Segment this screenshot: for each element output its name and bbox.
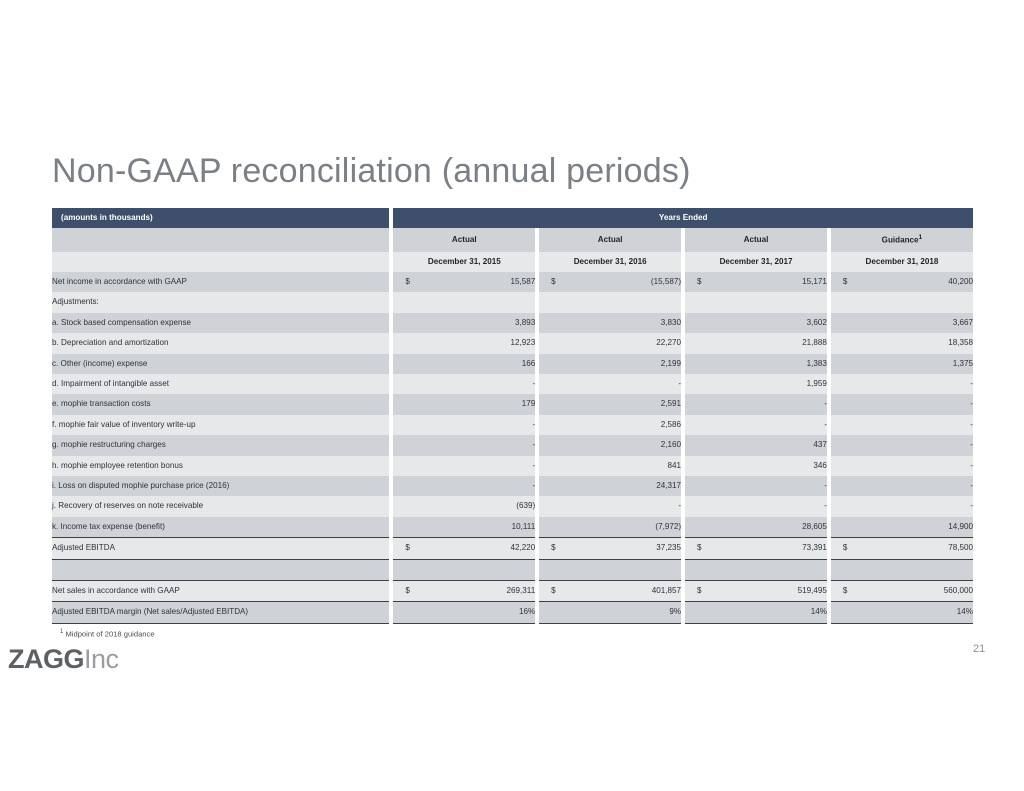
- cell-value: -: [859, 476, 973, 496]
- currency-symbol: $: [393, 538, 421, 559]
- cell-value: 15,171: [713, 272, 826, 292]
- cell-value: -: [422, 415, 535, 435]
- guidance-footnote-marker: 1: [919, 234, 923, 241]
- cell-value: 3,667: [859, 313, 973, 333]
- cell-value: -: [859, 374, 973, 394]
- currency-symbol: [393, 292, 421, 312]
- currency-symbol: [831, 415, 859, 435]
- currency-symbol: $: [539, 272, 567, 292]
- currency-symbol: [393, 313, 421, 333]
- currency-symbol: [393, 333, 421, 353]
- table-row: [52, 559, 973, 580]
- currency-symbol: [831, 476, 859, 496]
- header-row-type: Actual Actual Actual Guidance1: [52, 228, 973, 251]
- date-row-blank: [52, 252, 389, 272]
- amounts-in-thousands-label: (amounts in thousands): [52, 208, 389, 228]
- currency-symbol: [831, 394, 859, 414]
- currency-symbol: [685, 476, 713, 496]
- cell-value: 18,358: [859, 333, 973, 353]
- cell-value: 1,959: [713, 374, 826, 394]
- table-row: Adjustments:: [52, 292, 973, 312]
- footnote: 1 Midpoint of 2018 guidance: [60, 629, 155, 639]
- currency-symbol: $: [393, 580, 421, 601]
- currency-symbol: [393, 394, 421, 414]
- cell-value: -: [422, 374, 535, 394]
- cell-value: 1,383: [713, 354, 826, 374]
- row-label: a. Stock based compensation expense: [52, 313, 389, 333]
- cell-value: 560,000: [859, 580, 973, 601]
- cell-value: 10,111: [422, 517, 535, 538]
- cell-value: -: [568, 496, 681, 516]
- cell-value: 40,200: [859, 272, 973, 292]
- non-gaap-reconciliation-table: (amounts in thousands) Years Ended Actua…: [52, 208, 973, 624]
- column-type-2017: Actual: [685, 228, 827, 251]
- row-label: Adjusted EBITDA: [52, 538, 389, 559]
- currency-symbol: [831, 456, 859, 476]
- currency-symbol: [685, 435, 713, 455]
- cell-value: [422, 559, 535, 580]
- cell-value: [859, 292, 973, 312]
- cell-value: [713, 292, 826, 312]
- cell-value: 1,375: [859, 354, 973, 374]
- cell-value: 16%: [422, 602, 535, 623]
- cell-value: (15,587): [568, 272, 681, 292]
- cell-value: 14%: [713, 602, 826, 623]
- row-label: Net income in accordance with GAAP: [52, 272, 389, 292]
- currency-symbol: [539, 559, 567, 580]
- table-row: Adjusted EBITDA margin (Net sales/Adjust…: [52, 602, 973, 623]
- table-row: d. Impairment of intangible asset--1,959…: [52, 374, 973, 394]
- currency-symbol: [539, 435, 567, 455]
- table-row: Net income in accordance with GAAP$15,58…: [52, 272, 973, 292]
- currency-symbol: [685, 394, 713, 414]
- currency-symbol: [685, 517, 713, 538]
- table-header: (amounts in thousands) Years Ended Actua…: [52, 208, 973, 272]
- table-row: b. Depreciation and amortization12,92322…: [52, 333, 973, 353]
- currency-symbol: [393, 435, 421, 455]
- cell-value: [568, 559, 681, 580]
- cell-value: 22,270: [568, 333, 681, 353]
- currency-symbol: $: [685, 272, 713, 292]
- table-row: e. mophie transaction costs1792,591--: [52, 394, 973, 414]
- cell-value: 3,830: [568, 313, 681, 333]
- cell-value: 2,160: [568, 435, 681, 455]
- cell-value: 2,591: [568, 394, 681, 414]
- currency-symbol: [539, 456, 567, 476]
- currency-symbol: [831, 602, 859, 623]
- currency-symbol: [539, 354, 567, 374]
- currency-symbol: [831, 435, 859, 455]
- currency-symbol: [539, 313, 567, 333]
- footnote-text: Midpoint of 2018 guidance: [65, 630, 154, 639]
- currency-symbol: [393, 496, 421, 516]
- cell-value: 401,857: [568, 580, 681, 601]
- cell-value: (7,972): [568, 517, 681, 538]
- currency-symbol: [393, 517, 421, 538]
- row-label: k. Income tax expense (benefit): [52, 517, 389, 538]
- years-ended-label: Years Ended: [393, 208, 973, 228]
- currency-symbol: [539, 602, 567, 623]
- cell-value: 14%: [859, 602, 973, 623]
- table-body: Net income in accordance with GAAP$15,58…: [52, 272, 973, 623]
- financial-table-container: (amounts in thousands) Years Ended Actua…: [52, 208, 973, 624]
- column-type-2015: Actual: [393, 228, 535, 251]
- currency-symbol: [539, 476, 567, 496]
- cell-value: 37,235: [568, 538, 681, 559]
- cell-value: -: [859, 415, 973, 435]
- currency-symbol: $: [393, 272, 421, 292]
- currency-symbol: [685, 496, 713, 516]
- currency-symbol: [831, 559, 859, 580]
- table-row: c. Other (income) expense1662,1991,3831,…: [52, 354, 973, 374]
- row-label: d. Impairment of intangible asset: [52, 374, 389, 394]
- cell-value: 14,900: [859, 517, 973, 538]
- currency-symbol: [393, 456, 421, 476]
- row-label: [52, 559, 389, 580]
- table-row: Adjusted EBITDA$42,220$37,235$73,391$78,…: [52, 538, 973, 559]
- cell-value: 519,495: [713, 580, 826, 601]
- cell-value: [859, 559, 973, 580]
- currency-symbol: [393, 602, 421, 623]
- table-row: j. Recovery of reserves on note receivab…: [52, 496, 973, 516]
- cell-value: -: [859, 456, 973, 476]
- row-label: g. mophie restructuring charges: [52, 435, 389, 455]
- table-row: g. mophie restructuring charges-2,160437…: [52, 435, 973, 455]
- currency-symbol: [685, 292, 713, 312]
- row-label: i. Loss on disputed mophie purchase pric…: [52, 476, 389, 496]
- cell-value: (639): [422, 496, 535, 516]
- currency-symbol: $: [685, 580, 713, 601]
- currency-symbol: [393, 415, 421, 435]
- currency-symbol: $: [539, 580, 567, 601]
- currency-symbol: [685, 415, 713, 435]
- currency-symbol: [831, 333, 859, 353]
- cell-value: [422, 292, 535, 312]
- currency-symbol: [685, 602, 713, 623]
- logo-secondary: Inc: [84, 644, 119, 674]
- row-label: h. mophie employee retention bonus: [52, 456, 389, 476]
- currency-symbol: [831, 374, 859, 394]
- row-label: e. mophie transaction costs: [52, 394, 389, 414]
- table-row: a. Stock based compensation expense3,893…: [52, 313, 973, 333]
- cell-value: -: [859, 496, 973, 516]
- currency-symbol: [685, 456, 713, 476]
- cell-value: 15,587: [422, 272, 535, 292]
- currency-symbol: [685, 559, 713, 580]
- currency-symbol: [539, 292, 567, 312]
- currency-symbol: [831, 313, 859, 333]
- cell-value: 179: [422, 394, 535, 414]
- currency-symbol: [831, 496, 859, 516]
- cell-value: -: [859, 435, 973, 455]
- cell-value: 2,586: [568, 415, 681, 435]
- cell-value: 73,391: [713, 538, 826, 559]
- page-title: Non-GAAP reconciliation (annual periods): [52, 152, 691, 191]
- cell-value: [568, 292, 681, 312]
- currency-symbol: $: [831, 538, 859, 559]
- cell-value: 3,602: [713, 313, 826, 333]
- row-label: f. mophie fair value of inventory write-…: [52, 415, 389, 435]
- cell-value: 9%: [568, 602, 681, 623]
- cell-value: -: [422, 476, 535, 496]
- cell-value: -: [422, 456, 535, 476]
- currency-symbol: [393, 559, 421, 580]
- cell-value: 841: [568, 456, 681, 476]
- cell-value: -: [713, 496, 826, 516]
- column-type-2016: Actual: [539, 228, 681, 251]
- logo-primary: ZAGG: [8, 644, 84, 674]
- cell-value: -: [568, 374, 681, 394]
- currency-symbol: [831, 292, 859, 312]
- currency-symbol: [831, 517, 859, 538]
- currency-symbol: $: [831, 272, 859, 292]
- cell-value: -: [713, 476, 826, 496]
- currency-symbol: [393, 354, 421, 374]
- row-label: c. Other (income) expense: [52, 354, 389, 374]
- cell-value: 437: [713, 435, 826, 455]
- cell-value: 166: [422, 354, 535, 374]
- table-row: h. mophie employee retention bonus-84134…: [52, 456, 973, 476]
- column-type-2018: Guidance1: [831, 228, 973, 251]
- column-type-2018-text: Guidance: [882, 236, 919, 245]
- page-number: 21: [973, 643, 985, 655]
- row-label: b. Depreciation and amortization: [52, 333, 389, 353]
- footnote-marker: 1: [60, 629, 63, 635]
- row-label: Adjusted EBITDA margin (Net sales/Adjust…: [52, 602, 389, 623]
- cell-value: -: [713, 394, 826, 414]
- cell-value: 269,311: [422, 580, 535, 601]
- cell-value: 346: [713, 456, 826, 476]
- currency-symbol: $: [685, 538, 713, 559]
- currency-symbol: [539, 496, 567, 516]
- cell-value: -: [859, 394, 973, 414]
- cell-value: 2,199: [568, 354, 681, 374]
- column-date-2016: December 31, 2016: [539, 252, 681, 272]
- currency-symbol: [685, 354, 713, 374]
- currency-symbol: [539, 415, 567, 435]
- zagg-inc-logo: ZAGGInc: [8, 644, 119, 675]
- currency-symbol: [685, 313, 713, 333]
- cell-value: 21,888: [713, 333, 826, 353]
- cell-value: 12,923: [422, 333, 535, 353]
- row-label: j. Recovery of reserves on note receivab…: [52, 496, 389, 516]
- type-row-blank: [52, 228, 389, 251]
- currency-symbol: [539, 517, 567, 538]
- currency-symbol: $: [831, 580, 859, 601]
- currency-symbol: [685, 374, 713, 394]
- currency-symbol: [831, 354, 859, 374]
- table-row: k. Income tax expense (benefit)10,111(7,…: [52, 517, 973, 538]
- cell-value: [713, 559, 826, 580]
- table-row: Net sales in accordance with GAAP$269,31…: [52, 580, 973, 601]
- currency-symbol: [393, 476, 421, 496]
- currency-symbol: [539, 394, 567, 414]
- table-row: f. mophie fair value of inventory write-…: [52, 415, 973, 435]
- table-row: i. Loss on disputed mophie purchase pric…: [52, 476, 973, 496]
- row-label: Adjustments:: [52, 292, 389, 312]
- cell-value: 42,220: [422, 538, 535, 559]
- cell-value: -: [422, 435, 535, 455]
- header-row-band: (amounts in thousands) Years Ended: [52, 208, 973, 228]
- cell-value: 24,317: [568, 476, 681, 496]
- header-row-date: December 31, 2015 December 31, 2016 Dece…: [52, 252, 973, 272]
- row-label: Net sales in accordance with GAAP: [52, 580, 389, 601]
- currency-symbol: [539, 333, 567, 353]
- cell-value: 3,893: [422, 313, 535, 333]
- slide-canvas: Non-GAAP reconciliation (annual periods): [0, 0, 1024, 791]
- cell-value: -: [713, 415, 826, 435]
- currency-symbol: [393, 374, 421, 394]
- cell-value: 28,605: [713, 517, 826, 538]
- cell-value: 78,500: [859, 538, 973, 559]
- currency-symbol: [685, 333, 713, 353]
- column-date-2015: December 31, 2015: [393, 252, 535, 272]
- column-date-2018: December 31, 2018: [831, 252, 973, 272]
- currency-symbol: [539, 374, 567, 394]
- column-date-2017: December 31, 2017: [685, 252, 827, 272]
- currency-symbol: $: [539, 538, 567, 559]
